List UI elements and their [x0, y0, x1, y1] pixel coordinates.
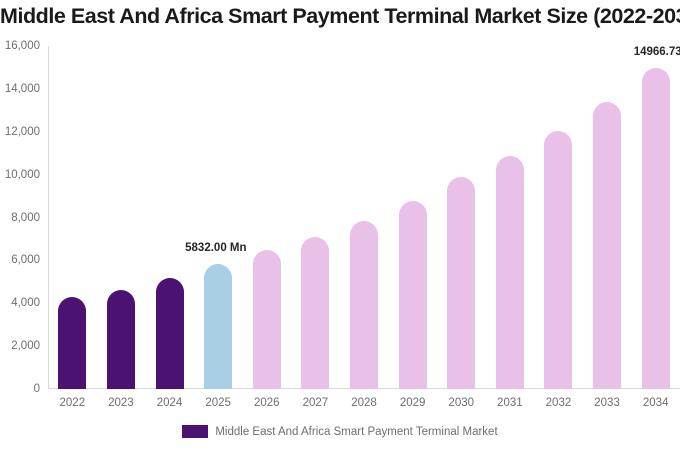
x-axis-tick-label: 2027 — [290, 397, 340, 409]
legend-label: Middle East And Africa Smart Payment Ter… — [215, 426, 497, 438]
chart-title: Middle East And Africa Smart Payment Ter… — [0, 2, 680, 30]
y-axis-tick-label: 0 — [34, 383, 40, 395]
bar[interactable] — [301, 237, 329, 389]
y-axis-tick-label: 4,000 — [11, 297, 40, 309]
bar-group[interactable] — [107, 40, 135, 390]
x-axis-tick-label: 2023 — [96, 397, 146, 409]
x-axis-tick-label: 2032 — [533, 397, 583, 409]
bar-group[interactable] — [350, 40, 378, 390]
bar[interactable] — [544, 131, 572, 389]
bar[interactable] — [58, 297, 86, 389]
chart-container: Middle East And Africa Smart Payment Ter… — [0, 0, 680, 450]
y-axis-tick-label: 2,000 — [11, 340, 40, 352]
bar-group[interactable] — [642, 40, 670, 390]
x-axis-tick-label: 2024 — [145, 397, 195, 409]
bar-group[interactable] — [447, 40, 475, 390]
x-axis-tick-label: 2033 — [582, 397, 632, 409]
bar-group[interactable] — [204, 40, 232, 390]
y-axis-tick-label: 10,000 — [5, 169, 40, 181]
x-axis-tick-label: 2030 — [436, 397, 486, 409]
plot-area: 02,0004,0006,0008,00010,00012,00014,0001… — [48, 40, 680, 390]
bar-group[interactable] — [301, 40, 329, 390]
x-axis-tick-label: 2031 — [485, 397, 535, 409]
bar-group[interactable] — [544, 40, 572, 390]
bar-group[interactable] — [399, 40, 427, 390]
bar-group[interactable] — [58, 40, 86, 390]
bar[interactable] — [253, 250, 281, 389]
bar-group[interactable] — [156, 40, 184, 390]
bar-value-label: 14966.73 Mn — [634, 46, 680, 59]
bar[interactable] — [593, 102, 621, 389]
x-axis-tick-label: 2034 — [631, 397, 680, 409]
x-axis-tick-label: 2025 — [193, 397, 243, 409]
x-axis-tick-label: 2022 — [47, 397, 97, 409]
y-axis-tick-label: 14,000 — [5, 83, 40, 95]
bar[interactable] — [447, 177, 475, 389]
bar-group[interactable] — [253, 40, 281, 390]
bar[interactable] — [496, 156, 524, 389]
y-axis-tick-label: 8,000 — [11, 212, 40, 224]
bar[interactable] — [350, 221, 378, 389]
bar-group[interactable] — [496, 40, 524, 390]
x-axis-tick-label: 2028 — [339, 397, 389, 409]
bar-value-label: 5832.00 Mn — [185, 242, 246, 255]
y-axis-tick-label: 12,000 — [5, 126, 40, 138]
legend-swatch — [182, 425, 208, 438]
y-axis-tick-label: 16,000 — [5, 40, 40, 52]
bar[interactable] — [204, 264, 232, 389]
bar[interactable] — [399, 201, 427, 389]
chart-legend: Middle East And Africa Smart Payment Ter… — [0, 425, 680, 438]
bars-layer: 5832.00 Mn14966.73 Mn — [48, 40, 680, 390]
bar[interactable] — [642, 68, 670, 389]
bar[interactable] — [107, 290, 135, 389]
y-axis-tick-label: 6,000 — [11, 254, 40, 266]
x-axis-tick-label: 2026 — [242, 397, 292, 409]
x-axis-tick-label: 2029 — [388, 397, 438, 409]
bar[interactable] — [156, 278, 184, 389]
bar-group[interactable] — [593, 40, 621, 390]
x-axis-tick-labels: 2022202320242025202620272028202920302031… — [48, 397, 680, 415]
